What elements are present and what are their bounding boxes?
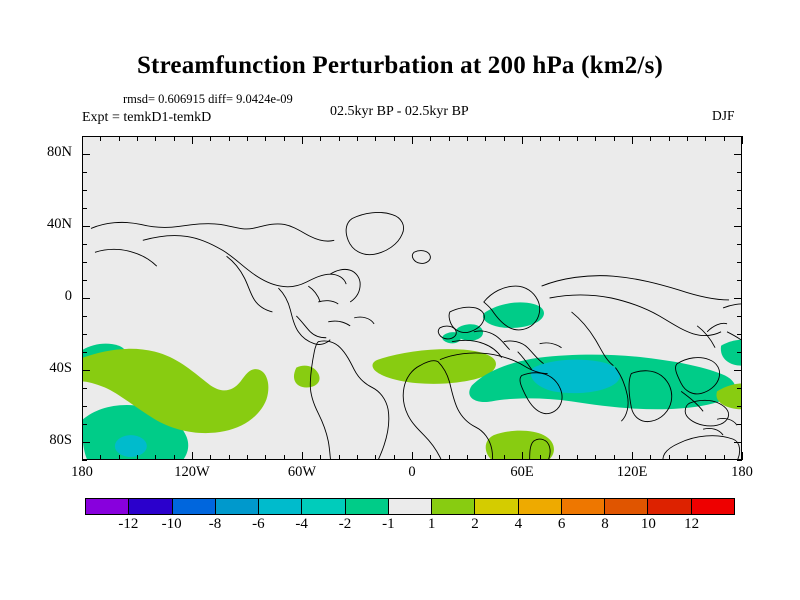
colorbar-segment-11[interactable] bbox=[562, 499, 605, 514]
tick-mark bbox=[742, 136, 743, 144]
colorbar-ticklabels: -12-10-8-6-4-2-1124681012 bbox=[0, 516, 800, 538]
contour-dateline-neg bbox=[721, 340, 741, 366]
colorbar-tick-4: 4 bbox=[495, 516, 541, 533]
xtick-label-0: 0 bbox=[377, 464, 447, 481]
colorbar-tick-1: 1 bbox=[409, 516, 455, 533]
colorbar-tick-8: 8 bbox=[582, 516, 628, 533]
tick-mark bbox=[82, 460, 87, 461]
colorbar-tick-neg1: -1 bbox=[365, 516, 411, 533]
filled-contours bbox=[83, 302, 741, 459]
colorbar-tick-10: 10 bbox=[625, 516, 671, 533]
ytick-label-40s: 40S bbox=[26, 360, 72, 377]
map-svg bbox=[83, 137, 741, 459]
colorbar-tick-6: 6 bbox=[539, 516, 585, 533]
contour-southern-africa-positive bbox=[486, 431, 554, 459]
contour-north-sea-neg bbox=[442, 332, 461, 343]
stats-line: rmsd= 0.606915 diff= 9.0424e-09 bbox=[123, 92, 293, 107]
colorbar-segment-0[interactable] bbox=[86, 499, 129, 514]
colorbar-tick-neg6: -6 bbox=[235, 516, 281, 533]
xtick-label-180e: 180 bbox=[707, 464, 777, 481]
colorbar-tick-12: 12 bbox=[669, 516, 715, 533]
ytick-label-80n: 80N bbox=[26, 144, 72, 161]
ytick-label-40n: 40N bbox=[26, 216, 72, 233]
colorbar-segment-8[interactable] bbox=[432, 499, 475, 514]
colorbar-segment-14[interactable] bbox=[692, 499, 734, 514]
colorbar-segment-7[interactable] bbox=[389, 499, 432, 514]
ytick-label-80s: 80S bbox=[26, 432, 72, 449]
contour-south-pacific-core bbox=[115, 435, 147, 457]
colorbar-segment-13[interactable] bbox=[648, 499, 691, 514]
colorbar-segment-4[interactable] bbox=[259, 499, 302, 514]
colorbar[interactable] bbox=[85, 498, 735, 515]
figure-canvas: Streamfunction Perturbation at 200 hPa (… bbox=[0, 0, 800, 600]
colorbar-tick-neg4: -4 bbox=[279, 516, 325, 533]
colorbar-tick-neg8: -8 bbox=[192, 516, 238, 533]
colorbar-tick-neg10: -10 bbox=[149, 516, 195, 533]
page-title: Streamfunction Perturbation at 200 hPa (… bbox=[0, 52, 800, 80]
map-plot-area bbox=[82, 136, 742, 460]
colorbar-segment-2[interactable] bbox=[173, 499, 216, 514]
season-label: DJF bbox=[712, 108, 735, 124]
experiment-label: Expt = temkD1-temkD bbox=[82, 110, 211, 126]
xtick-label-120e: 120E bbox=[597, 464, 667, 481]
colorbar-segment-6[interactable] bbox=[346, 499, 389, 514]
contour-scandinavia-neg bbox=[483, 302, 544, 328]
colorbar-segment-1[interactable] bbox=[129, 499, 172, 514]
contour-caribbean-positive bbox=[294, 366, 320, 388]
colorbar-segment-10[interactable] bbox=[519, 499, 562, 514]
ytick-label-0: 0 bbox=[26, 288, 72, 305]
xtick-label-120w: 120W bbox=[157, 464, 227, 481]
tick-mark bbox=[737, 460, 742, 461]
xtick-label-180w: 180 bbox=[47, 464, 117, 481]
colorbar-tick-neg12: -12 bbox=[105, 516, 151, 533]
colorbar-segment-12[interactable] bbox=[605, 499, 648, 514]
tick-mark bbox=[742, 452, 743, 460]
colorbar-segment-5[interactable] bbox=[302, 499, 345, 514]
colorbar-tick-neg2: -2 bbox=[322, 516, 368, 533]
period-label: 02.5kyr BP - 02.5kyr BP bbox=[330, 104, 469, 120]
xtick-label-60w: 60W bbox=[267, 464, 337, 481]
xtick-label-60e: 60E bbox=[487, 464, 557, 481]
colorbar-segment-3[interactable] bbox=[216, 499, 259, 514]
colorbar-tick-2: 2 bbox=[452, 516, 498, 533]
contour-nw-africa-positive bbox=[372, 349, 495, 384]
colorbar-segment-9[interactable] bbox=[475, 499, 518, 514]
